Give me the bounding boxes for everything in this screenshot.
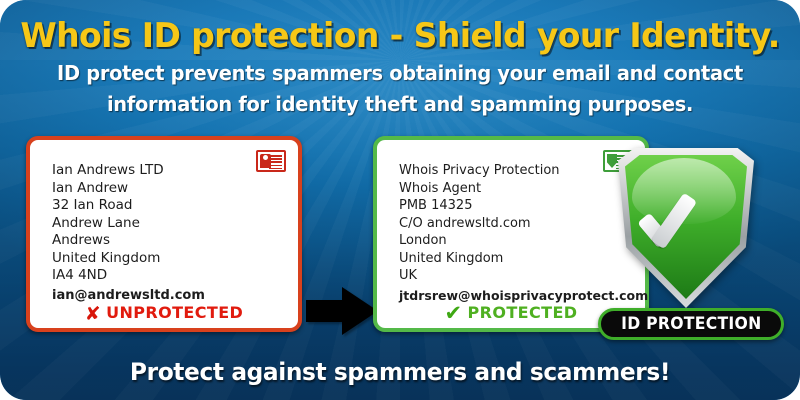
address-line: C/O andrewsltd.com (399, 215, 635, 233)
address-line: United Kingdom (399, 250, 635, 268)
address-line: Ian Andrews LTD (52, 162, 288, 180)
protected-address-block: Whois Privacy Protection Whois Agent PMB… (399, 162, 635, 304)
address-line: United Kingdom (52, 250, 288, 268)
address-line: UK (399, 267, 635, 285)
status-label: PROTECTED (468, 303, 578, 322)
address-line: IA4 4ND (52, 267, 288, 285)
protected-whois-card: Whois Privacy Protection Whois Agent PMB… (373, 136, 649, 332)
shield-check-mark-icon (644, 190, 728, 252)
address-line: Whois Privacy Protection (399, 162, 635, 180)
right-arrow-icon (306, 287, 378, 335)
unprotected-email: ian@andrewsltd.com (52, 287, 288, 305)
id-protection-label: ID PROTECTION (621, 314, 761, 334)
status-badge-unprotected: ✘UNPROTECTED (30, 303, 298, 324)
banner-subtitle-line-1: ID protect prevents spammers obtaining y… (12, 60, 788, 87)
protected-email: jtdrsrew@whoisprivacyprotect.com (399, 287, 635, 305)
address-line: Ian Andrew (52, 180, 288, 198)
banner-header: Whois ID protection - Shield your Identi… (0, 16, 800, 118)
whois-id-protection-banner: Whois ID protection - Shield your Identi… (0, 0, 800, 400)
unprotected-whois-card: Ian Andrews LTD Ian Andrew 32 Ian Road A… (26, 136, 302, 332)
address-line: 32 Ian Road (52, 197, 288, 215)
id-protection-badge: ID PROTECTION (598, 308, 784, 340)
banner-subtitle-line-2: information for identity theft and spamm… (12, 91, 788, 118)
address-line: London (399, 232, 635, 250)
address-line: Andrew Lane (52, 215, 288, 233)
cross-mark-icon: ✘ (85, 305, 101, 324)
address-line: Whois Agent (399, 180, 635, 198)
address-line: Andrews (52, 232, 288, 250)
status-label: UNPROTECTED (106, 303, 243, 322)
check-mark-icon: ✔ (445, 303, 463, 324)
address-line: PMB 14325 (399, 197, 635, 215)
banner-title: Whois ID protection - Shield your Identi… (12, 16, 788, 56)
banner-footer: Protect against spammers and scammers! (12, 358, 788, 386)
unprotected-address-block: Ian Andrews LTD Ian Andrew 32 Ian Road A… (52, 162, 288, 304)
arrow-shaft (306, 300, 346, 322)
green-shield-icon (618, 148, 754, 308)
